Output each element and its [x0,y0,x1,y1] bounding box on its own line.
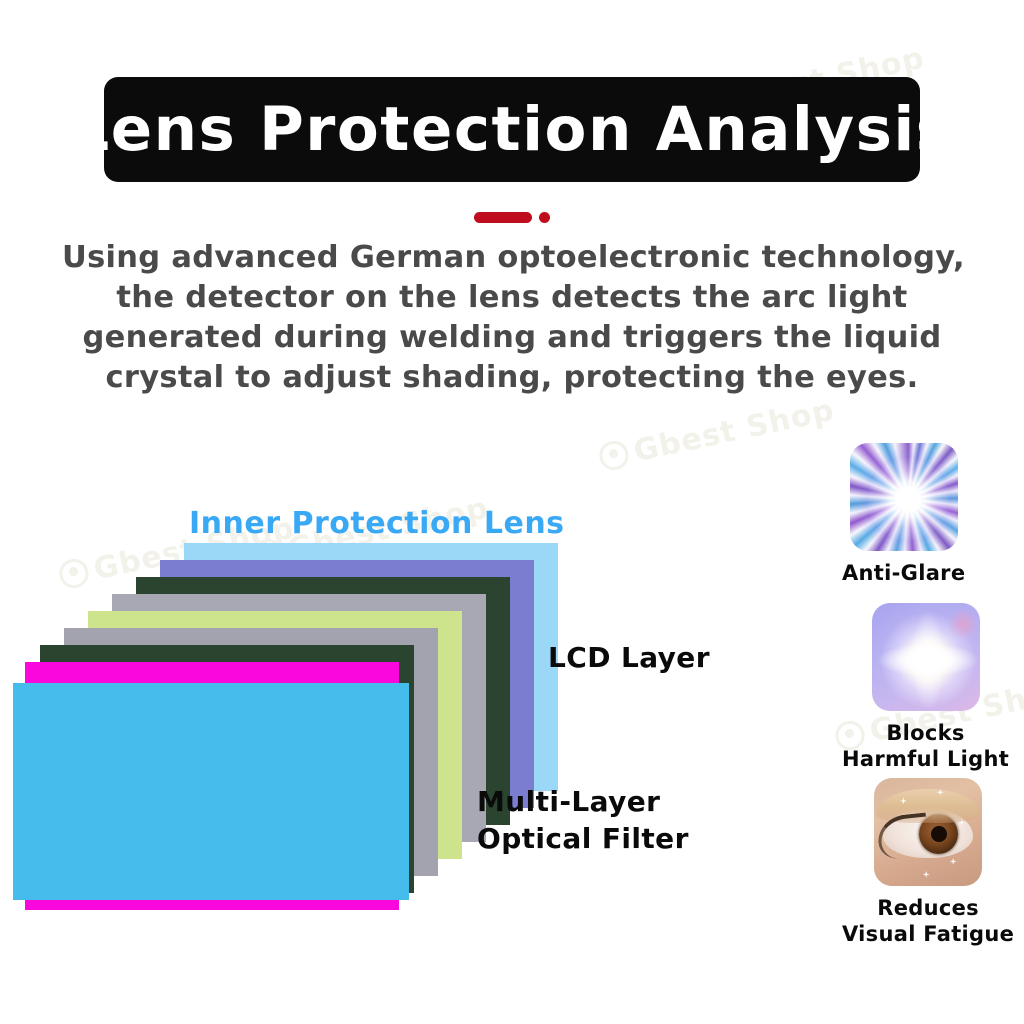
feature-label-reduces-visual-fatigue: Reduces Visual Fatigue [842,895,1014,947]
glare-burst-icon [850,443,958,551]
feature-label-line-1: Reduces [842,895,1014,921]
description-line-3: generated during welding and triggers th… [62,318,962,358]
multilayer-label-line-1: Multi-Layer [477,783,689,820]
multilayer-optical-filter-label: Multi-Layer Optical Filter [477,783,689,857]
lens-protection-infographic: Gbest ShopGbest ShopGbest ShopGbest Shop… [0,0,1024,1024]
feature-label-line-2: Visual Fatigue [842,921,1014,947]
section-divider [0,206,1024,228]
divider-bar [474,212,532,223]
feature-reduces-visual-fatigue: Reduces Visual Fatigue [842,778,1014,947]
lens-layer-outer-protection-lens [13,683,409,900]
watermark: Gbest Shop [596,393,837,477]
feature-label-blocks-harmful-light: Blocks Harmful Light [842,720,1009,772]
divider-dot-icon [539,212,550,223]
eye-sparkle-icon [923,871,930,878]
watermark-logo-icon [597,439,631,473]
inner-protection-lens-label: Inner Protection Lens [189,506,565,541]
lens-layer-diagram: Inner Protection Lens Outer Protection L… [0,490,760,920]
sun-flare-icon [872,603,980,711]
description-block: Using advanced German optoelectronic tec… [62,238,962,398]
eye-pupil [931,826,947,842]
description-line-1: Using advanced German optoelectronic tec… [62,238,962,278]
feature-anti-glare: Anti-Glare [842,443,965,586]
watermark-text: Gbest Shop [631,393,838,470]
feature-label-line-1: Anti-Glare [842,560,965,586]
description-line-2: the detector on the lens detects the arc… [62,278,962,318]
feature-label-line-1: Blocks [842,720,1009,746]
feature-blocks-harmful-light: Blocks Harmful Light [842,603,1009,772]
lcd-layer-label: LCD Layer [548,641,710,674]
page-title: Lens Protection Analysis [70,99,953,160]
feature-label-anti-glare: Anti-Glare [842,560,965,586]
description-line-4: crystal to adjust shading, protecting th… [62,358,962,398]
title-banner: Lens Protection Analysis [104,77,920,182]
eye-sparkle-icon [950,858,957,865]
feature-label-line-2: Harmful Light [842,746,1009,772]
eye-icon [874,778,982,886]
multilayer-label-line-2: Optical Filter [477,820,689,857]
